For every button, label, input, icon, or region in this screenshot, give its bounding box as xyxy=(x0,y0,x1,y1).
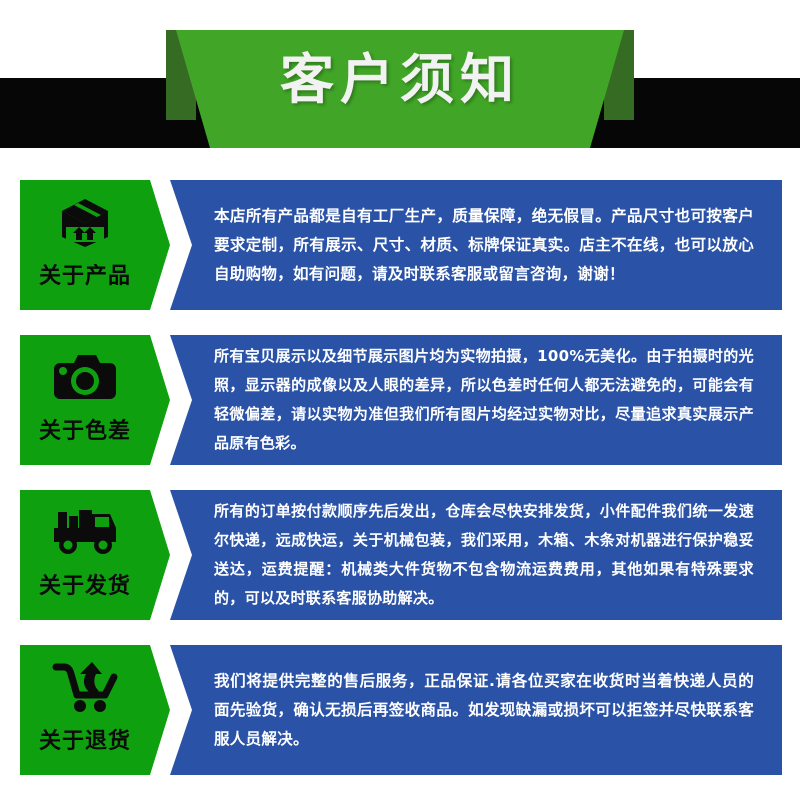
badge-label-product: 关于产品 xyxy=(20,258,150,290)
panel-text-returns: 我们将提供完整的售后服务，正品保证.请各位买家在收货时当着快递人员的面先验货，确… xyxy=(214,645,754,775)
badge-color[interactable]: 关于色差 xyxy=(20,335,170,465)
badge-label-shipping: 关于发货 xyxy=(20,568,150,600)
panel-returns: 我们将提供完整的售后服务，正品保证.请各位买家在收货时当着快递人员的面先验货，确… xyxy=(170,645,782,775)
panel-shipping: 所有的订单按付款顺序先后发出，仓库会尽快安排发货，小件配件我们统一发速尔快递，远… xyxy=(170,490,782,620)
notice-row-returns: 关于退货 我们将提供完整的售后服务，正品保证.请各位买家在收货时当着快递人员的面… xyxy=(0,645,800,775)
notice-row-product: 关于产品 本店所有产品都是自有工厂生产，质量保障，绝无假冒。产品尺寸也可按客户要… xyxy=(0,180,800,310)
panel-text-color: 所有宝贝展示以及细节展示图片均为实物拍摄，100%无美化。由于拍摄时的光照，显示… xyxy=(214,335,754,465)
forklift-truck-icon xyxy=(20,496,150,566)
package-box-icon xyxy=(20,186,150,256)
ribbon-body xyxy=(176,30,624,148)
badge-product[interactable]: 关于产品 xyxy=(20,180,170,310)
notice-row-color: 关于色差 所有宝贝展示以及细节展示图片均为实物拍摄，100%无美化。由于拍摄时的… xyxy=(0,335,800,465)
panel-product: 本店所有产品都是自有工厂生产，质量保障，绝无假冒。产品尺寸也可按客户要求定制，所… xyxy=(170,180,782,310)
panel-text-product: 本店所有产品都是自有工厂生产，质量保障，绝无假冒。产品尺寸也可按客户要求定制，所… xyxy=(214,180,754,310)
notice-row-shipping: 关于发货 所有的订单按付款顺序先后发出，仓库会尽快安排发货，小件配件我们统一发速… xyxy=(0,490,800,620)
return-cart-icon xyxy=(20,651,150,721)
header-banner: 客户须知 xyxy=(0,0,800,160)
badge-label-color: 关于色差 xyxy=(20,413,150,445)
badge-returns[interactable]: 关于退货 xyxy=(20,645,170,775)
panel-text-shipping: 所有的订单按付款顺序先后发出，仓库会尽快安排发货，小件配件我们统一发速尔快递，远… xyxy=(214,490,754,620)
badge-shipping[interactable]: 关于发货 xyxy=(20,490,170,620)
panel-color: 所有宝贝展示以及细节展示图片均为实物拍摄，100%无美化。由于拍摄时的光照，显示… xyxy=(170,335,782,465)
ribbon-shape xyxy=(0,0,800,160)
customer-notice-graphic: 客户须知 关于产品 xyxy=(0,0,800,800)
camera-icon xyxy=(20,341,150,411)
badge-label-returns: 关于退货 xyxy=(20,723,150,755)
